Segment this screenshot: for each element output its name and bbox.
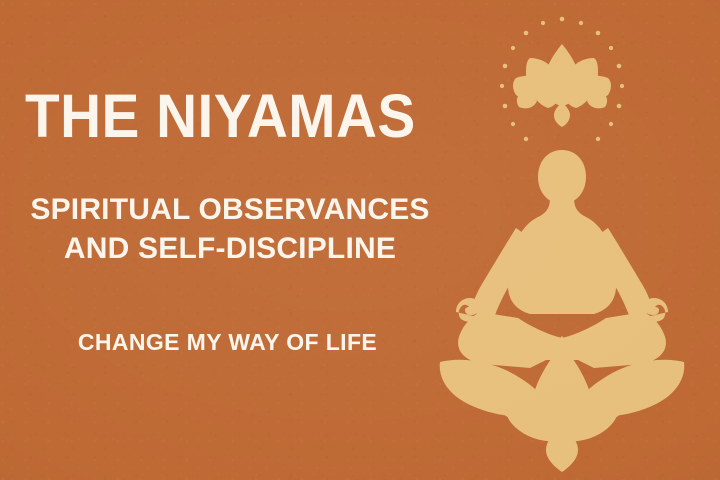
page-title: THE NIYAMAS bbox=[25, 86, 416, 147]
subtitle-line-2: AND SELF-DISCIPLINE bbox=[0, 229, 460, 268]
base-lotus-icon bbox=[440, 344, 685, 472]
meditating-figure-icon bbox=[456, 150, 668, 368]
poster-subtitle: SPIRITUAL OBSERVANCES AND SELF-DISCIPLIN… bbox=[0, 190, 460, 268]
subtitle-line-1: SPIRITUAL OBSERVANCES bbox=[0, 190, 460, 229]
meditation-illustration bbox=[420, 0, 720, 480]
crown-lotus-icon bbox=[513, 44, 611, 127]
poster-canvas: THE NIYAMAS SPIRITUAL OBSERVANCES AND SE… bbox=[0, 0, 720, 480]
illustration-svg bbox=[420, 0, 720, 480]
poster-tagline: CHANGE MY WAY OF LIFE bbox=[0, 328, 455, 356]
poster-text-block: THE NIYAMAS SPIRITUAL OBSERVANCES AND SE… bbox=[0, 0, 460, 480]
